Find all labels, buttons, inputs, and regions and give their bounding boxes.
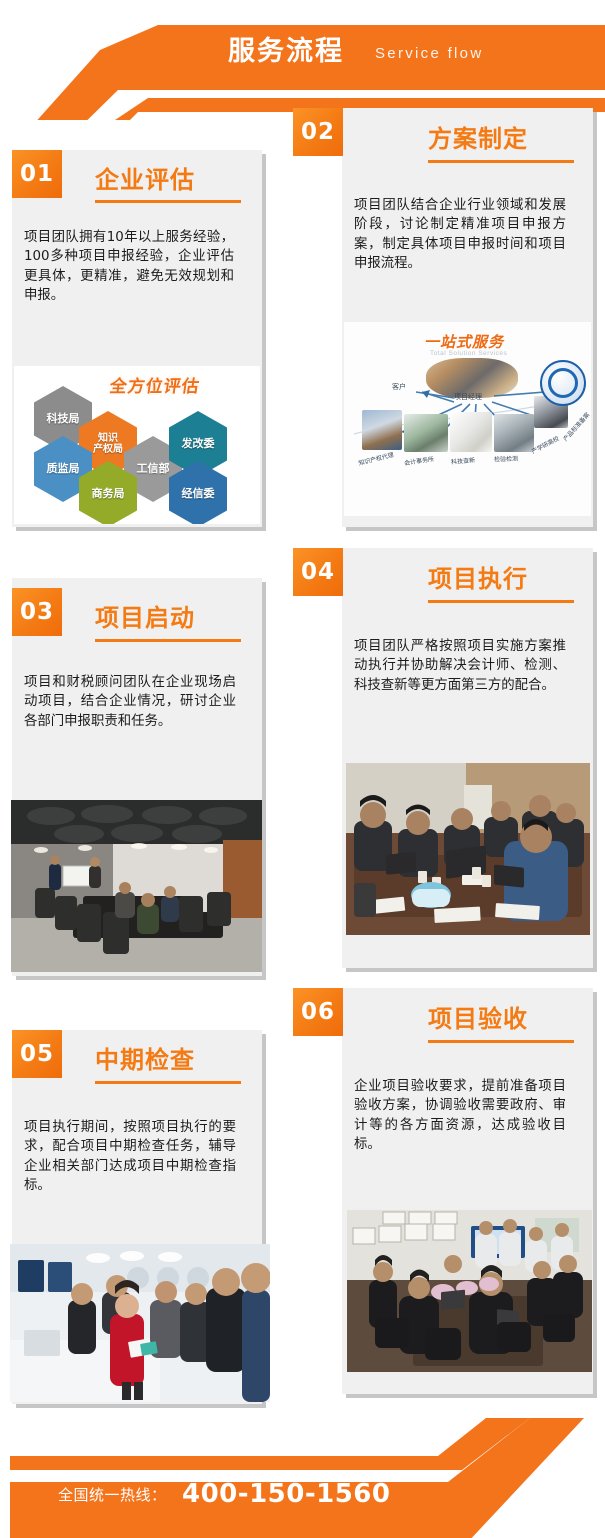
card-04-photo: [346, 763, 590, 935]
card-01-figure: 全方位评估 科技局 知识产权局 质监局 工信部 商务局 发改委 经信委: [14, 366, 260, 524]
card-05-body: 项目执行期间，按照项目执行的要求，配合项目中期检查任务，辅导企业相关部门达成项目…: [24, 1118, 236, 1195]
card-06-number-badge: 06: [293, 988, 343, 1036]
card-02-number-badge: 02: [293, 108, 343, 156]
card-02-number: 02: [301, 119, 335, 145]
card-04-title-rule: [428, 600, 574, 603]
card-04-photo-content: [346, 763, 590, 935]
card-06-body: 企业项目验收要求，提前准备项目验收方案，协调验收需要政府、审计等的各方面资源，达…: [354, 1077, 566, 1154]
header-title-cn: 服务流程: [228, 38, 344, 65]
card-03-title: 项目启动: [95, 606, 195, 630]
card-04-body: 项目团队严格按照项目实施方案推动执行并协助解决会计师、检测、科技查新等更方面第三…: [354, 637, 566, 695]
card-05-title: 中期检查: [95, 1048, 195, 1072]
card-04-number-badge: 04: [293, 548, 343, 596]
card-01-body: 项目团队拥有10年以上服务经验，100多种项目申报经验，企业评估更具体，更精准，…: [24, 228, 234, 305]
card-02-body: 项目团队结合企业行业领域和发展阶段，讨论制定精准项目申报方案，制定具体项目申报时…: [354, 196, 566, 273]
header-banner: 服务流程 Service flow: [0, 0, 605, 120]
card-06-title: 项目验收: [428, 1007, 528, 1031]
card-06-photo-content: [347, 1210, 592, 1372]
card-05-number-badge: 05: [12, 1030, 62, 1078]
card-03-number: 03: [20, 599, 54, 625]
card-03-title-rule: [95, 639, 241, 642]
card-06-number: 06: [301, 999, 335, 1025]
one-stop-node-inspection: [494, 414, 534, 452]
one-stop-label-project-manager: 项目经理: [454, 392, 482, 402]
card-05-photo: [10, 1244, 270, 1402]
footer-hotline-number: 400-150-1560: [182, 1481, 391, 1507]
card-01-title: 企业评估: [95, 168, 195, 192]
card-03-body: 项目和财税顾问团队在企业现场启动项目，结合企业情况，研讨企业各部门申报职责和任务…: [24, 673, 236, 731]
card-01-number-badge: 01: [12, 150, 62, 198]
one-stop-label-inspection-testing: 检验检测: [494, 454, 518, 464]
service-flow-poster: 服务流程 Service flow 01 企业评估 项目团队拥有10年以上服务经…: [0, 0, 605, 1538]
footer-banner: 全国统一热线： 400-150-1560: [0, 1418, 605, 1538]
hexagon-figure-heading: 全方位评估: [108, 372, 202, 397]
card-04-number: 04: [301, 559, 335, 585]
card-02-title-rule: [428, 160, 574, 163]
card-01-title-rule: [95, 200, 241, 203]
one-stop-seal-icon: [540, 360, 586, 406]
one-stop-node-ip: [362, 410, 402, 450]
card-06-photo: [347, 1210, 592, 1372]
card-05-photo-content: [10, 1244, 270, 1402]
one-stop-node-accounting: [404, 414, 448, 452]
card-02-title: 方案制定: [428, 127, 528, 151]
card-06-title-rule: [428, 1040, 574, 1043]
card-04-title: 项目执行: [428, 567, 528, 591]
card-03-photo-content: [11, 800, 262, 972]
header-title-en: Service flow: [375, 46, 483, 61]
card-05-title-rule: [95, 1081, 241, 1084]
card-02-figure: 一站式服务 Total Solution Services 客户 项目经理: [344, 322, 591, 516]
one-stop-label-customer: 客户: [392, 382, 406, 392]
one-stop-node-novelty-search: [450, 412, 492, 452]
card-05-number: 05: [20, 1041, 54, 1067]
footer-hotline-label: 全国统一热线：: [58, 1488, 167, 1503]
card-03-photo: [11, 800, 262, 972]
card-03-number-badge: 03: [12, 588, 62, 636]
footer-banner-shape: [0, 1418, 605, 1538]
card-01-number: 01: [20, 161, 54, 187]
